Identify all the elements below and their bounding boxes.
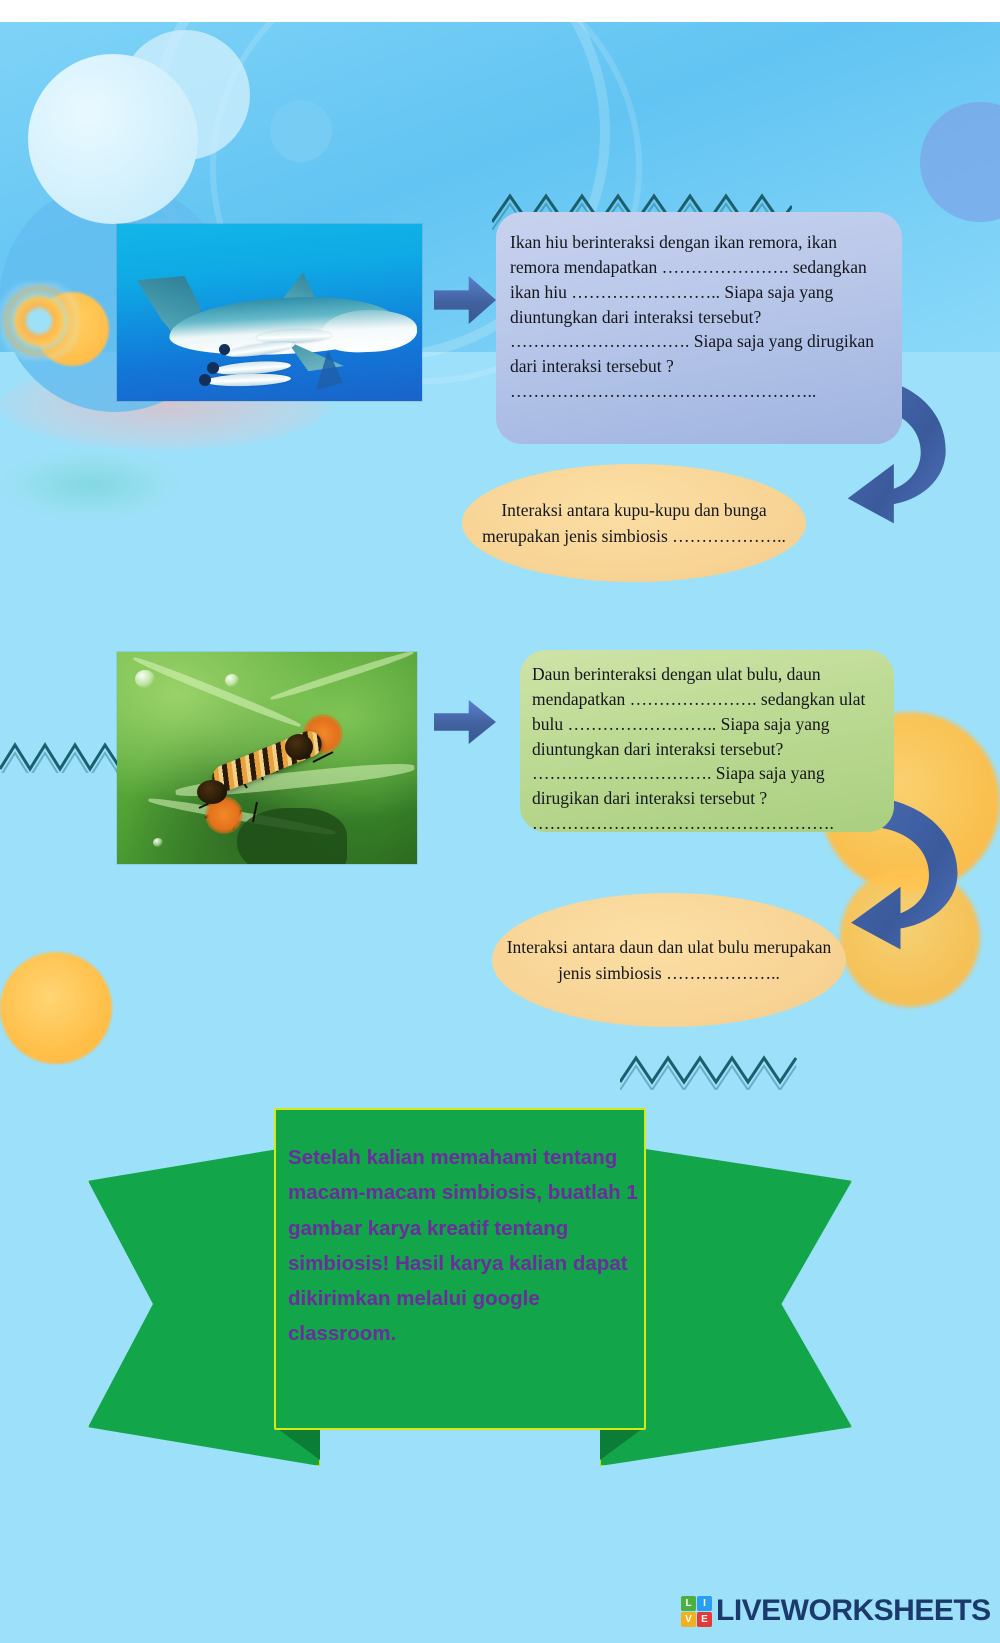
ellipse-butterfly-text: Interaksi antara kupu-kupu dan bunga mer… [462,497,806,550]
worksheet-page: Ikan hiu berinteraksi dengan ikan remora… [0,0,1000,1643]
logo-letter-blocks: L I V E [681,1596,712,1627]
zigzag-decor-left [0,735,118,773]
callout-leaf-text: Daun berinteraksi dengan ulat bulu, daun… [532,662,880,836]
callout-leaf-question: Daun berinteraksi dengan ulat bulu, daun… [520,650,894,832]
ellipse-leaf-text: Interaksi antara daun dan ulat bulu meru… [492,934,846,987]
background-circle-pale-1 [28,54,198,224]
ellipse-leaf-caterpillar: Interaksi antara daun dan ulat bulu meru… [492,893,846,1027]
background-circle-pale-3 [270,100,332,162]
caterpillar-photo [117,652,417,864]
background-circle-orange-2 [0,952,112,1064]
caterpillar-head [285,734,313,760]
dew-drop [135,670,155,688]
task-banner: Setelah kalian memahami tentang macam-ma… [88,1108,938,1468]
logo-block-i: I [697,1596,712,1611]
remora-head [207,362,219,374]
shark-photo [117,224,422,401]
logo-block-l: L [681,1596,696,1611]
callout-shark-text: Ikan hiu berinteraksi dengan ikan remora… [510,230,884,404]
zigzag-decor-bottom [620,1050,800,1090]
logo-wordmark: LIVEWORKSHEETS [716,1594,991,1628]
remora-head [219,344,230,355]
dew-drop [153,838,163,847]
liveworksheets-logo: L I V E LIVEWORKSHEETS [681,1594,991,1628]
remora-head [199,374,211,386]
ellipse-butterfly-flower: Interaksi antara kupu-kupu dan bunga mer… [462,464,806,582]
logo-block-v: V [681,1612,696,1627]
background-blob-teal [0,450,180,520]
background-ring-orange [0,282,78,360]
callout-shark-question: Ikan hiu berinteraksi dengan ikan remora… [496,212,902,444]
caterpillar-tail [197,780,227,804]
dew-drop [225,674,239,687]
banner-instruction-text: Setelah kalian memahami tentang macam-ma… [288,1140,638,1352]
logo-block-e: E [697,1612,712,1627]
